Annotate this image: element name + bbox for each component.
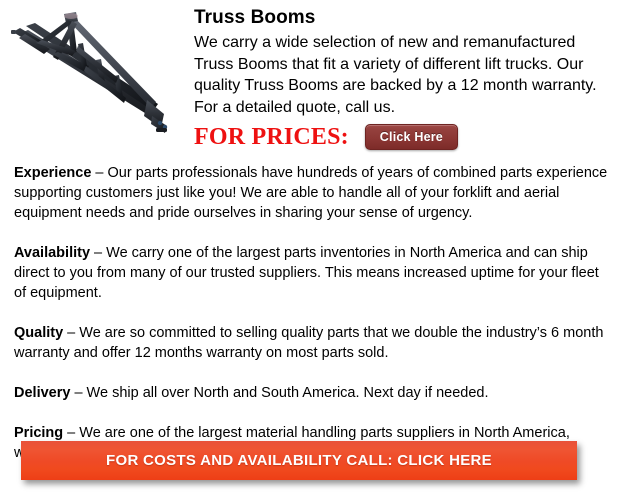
feature-term: Availability <box>14 245 90 261</box>
product-hero-section: Truss Booms We carry a wide selection of… <box>0 0 619 160</box>
feature-term: Experience <box>14 165 91 181</box>
feature-text: – Our parts professionals have hundreds … <box>14 165 607 221</box>
page-title: Truss Booms <box>194 6 612 29</box>
feature-item-delivery: Delivery – We ship all over North and So… <box>14 383 608 403</box>
feature-item-experience: Experience – Our parts professionals hav… <box>14 163 608 223</box>
product-copy: Truss Booms We carry a wide selection of… <box>194 6 612 118</box>
feature-text: – We carry one of the largest parts inve… <box>14 245 599 301</box>
product-description: We carry a wide selection of new and rem… <box>194 32 612 118</box>
click-here-button[interactable]: Click Here <box>365 124 458 150</box>
for-prices-row: FOR PRICES: Click Here <box>194 124 458 150</box>
feature-term: Delivery <box>14 385 70 401</box>
feature-text: – We ship all over North and South Ameri… <box>70 385 488 401</box>
feature-term: Quality <box>14 325 63 341</box>
for-prices-label: FOR PRICES: <box>194 124 349 150</box>
feature-item-quality: Quality – We are so committed to selling… <box>14 323 608 363</box>
truss-boom-product-image <box>6 4 186 144</box>
features-list: Experience – Our parts professionals hav… <box>14 163 608 463</box>
feature-text: – We are so committed to selling quality… <box>14 325 603 361</box>
feature-term: Pricing <box>14 425 63 441</box>
feature-item-availability: Availability – We carry one of the large… <box>14 243 608 303</box>
cta-call-banner-button[interactable]: FOR COSTS AND AVAILABILITY CALL: CLICK H… <box>21 441 577 480</box>
